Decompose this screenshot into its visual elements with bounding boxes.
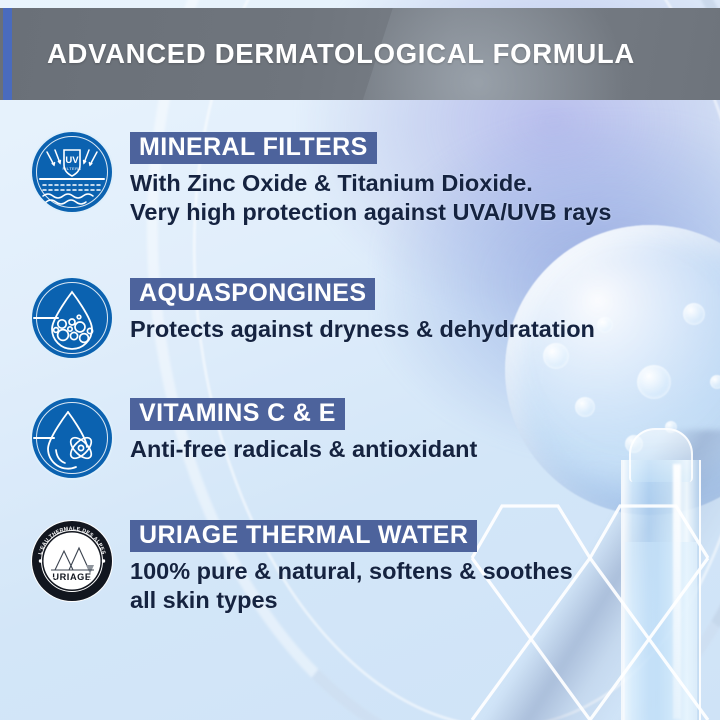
svg-text:FILTERS: FILTERS: [63, 166, 82, 171]
header-accent-bar: [3, 8, 12, 100]
feature-body-line: all skin types: [130, 586, 573, 615]
feature-title: AQUASPONGINES: [130, 278, 375, 310]
uriage-seal-logo: URIAGE L'EAU THERMALE DES ALPES FRENCH A…: [31, 520, 113, 602]
feature-texts: URIAGE THERMAL WATER 100% pure & natural…: [114, 520, 573, 615]
feature-icon-wrap: URIAGE L'EAU THERMALE DES ALPES FRENCH A…: [30, 520, 114, 615]
feature-body-line: Very high protection against UVA/UVB ray…: [130, 198, 611, 227]
feature-body: Anti-free radicals & antioxidant: [130, 435, 477, 464]
feature-title: VITAMINS C & E: [130, 398, 345, 430]
feature-row-aquaspongines: AQUASPONGINES Protects against dryness &…: [0, 278, 595, 358]
feature-title: URIAGE THERMAL WATER: [130, 520, 477, 552]
feature-texts: AQUASPONGINES Protects against dryness &…: [114, 278, 595, 358]
feature-icon-wrap: [30, 278, 114, 358]
water-drop-atom-icon: [32, 398, 112, 478]
uv-filter-shield-icon: UV FILTERS: [32, 132, 112, 212]
header-banner: ADVANCED DERMATOLOGICAL FORMULA: [0, 8, 720, 100]
feature-row-mineral-filters: UV FILTERS MINERAL FILTERS With Zinc Oxi…: [0, 132, 611, 227]
feature-texts: VITAMINS C & E Anti-free radicals & anti…: [114, 398, 477, 478]
feature-row-uriage-thermal-water: URIAGE L'EAU THERMALE DES ALPES FRENCH A…: [0, 520, 573, 615]
feature-body-line: 100% pure & natural, softens & soothes: [130, 557, 573, 586]
feature-row-vitamins: VITAMINS C & E Anti-free radicals & anti…: [0, 398, 477, 478]
feature-body-line: Anti-free radicals & antioxidant: [130, 435, 477, 464]
feature-icon-wrap: UV FILTERS: [30, 132, 114, 227]
feature-title: MINERAL FILTERS: [130, 132, 377, 164]
page-title: ADVANCED DERMATOLOGICAL FORMULA: [47, 38, 635, 70]
svg-text:UV: UV: [65, 155, 79, 166]
feature-body: With Zinc Oxide & Titanium Dioxide. Very…: [130, 169, 611, 227]
feature-body: Protects against dryness & dehydratation: [130, 315, 595, 344]
feature-body-line: With Zinc Oxide & Titanium Dioxide.: [130, 169, 611, 198]
feature-texts: MINERAL FILTERS With Zinc Oxide & Titani…: [114, 132, 611, 227]
water-drop-bubbles-icon: [32, 278, 112, 358]
feature-body: 100% pure & natural, softens & soothes a…: [130, 557, 573, 615]
feature-icon-wrap: [30, 398, 114, 478]
feature-body-line: Protects against dryness & dehydratation: [130, 315, 595, 344]
